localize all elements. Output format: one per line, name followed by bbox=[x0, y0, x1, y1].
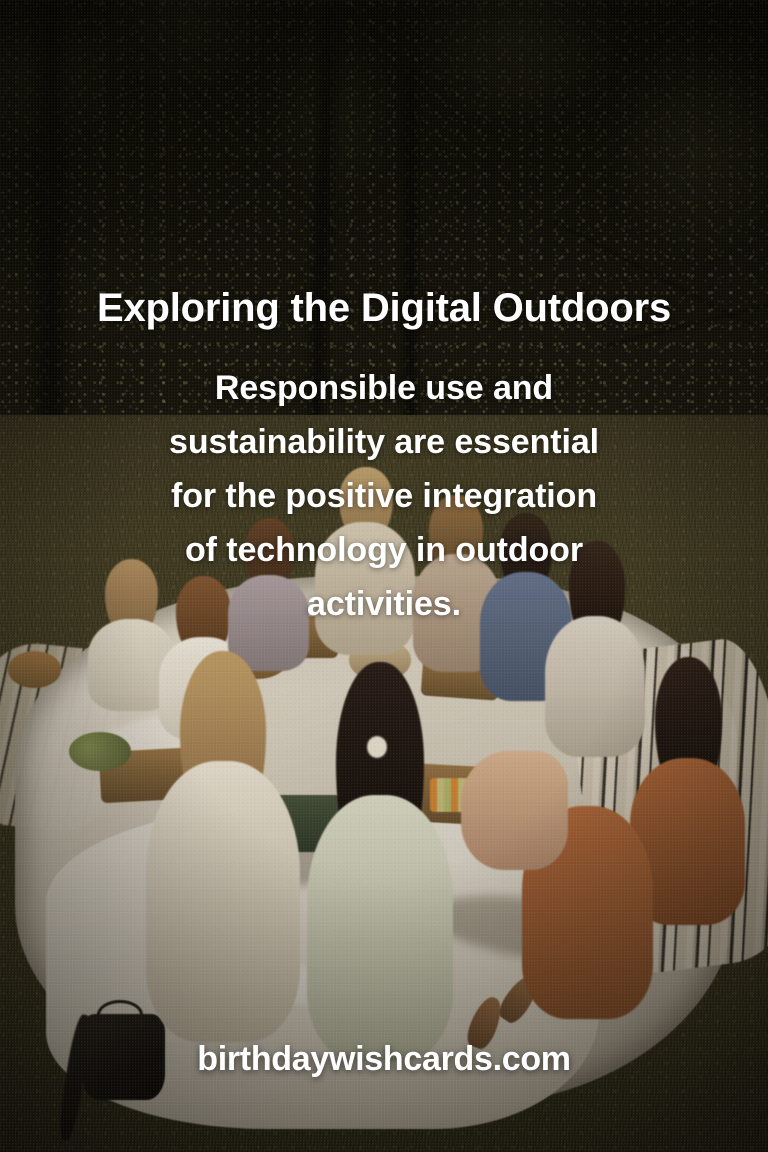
quote-line: sustainability are essential bbox=[56, 415, 712, 469]
quote-text: Responsible use and sustainability are e… bbox=[56, 361, 712, 631]
quote-line: activities. bbox=[56, 577, 712, 631]
website-url[interactable]: birthdaywishcards.com bbox=[0, 1040, 768, 1079]
page-title: Exploring the Digital Outdoors bbox=[0, 287, 768, 329]
quote-line: of technology in outdoor bbox=[56, 523, 712, 577]
quote-line: for the positive integration bbox=[56, 469, 712, 523]
text-overlay: Exploring the Digital Outdoors Responsib… bbox=[0, 0, 768, 1152]
social-quote-card: Exploring the Digital Outdoors Responsib… bbox=[0, 0, 768, 1152]
quote-line: Responsible use and bbox=[56, 361, 712, 415]
